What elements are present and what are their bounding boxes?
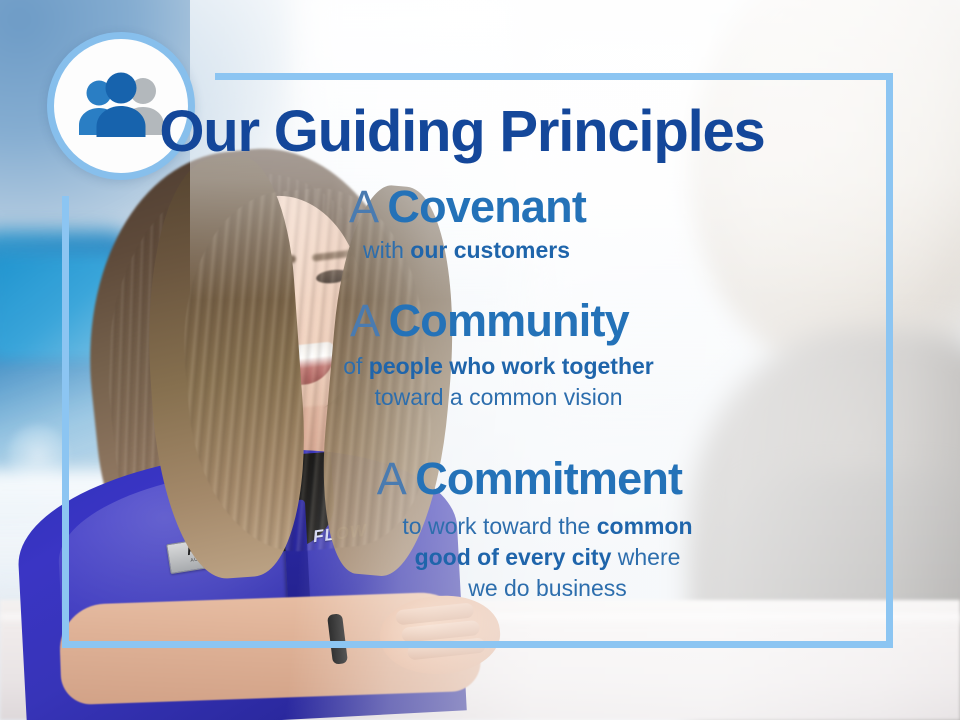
principle-heading: A Covenant [62, 181, 893, 233]
principle-keyword: Community [389, 295, 629, 346]
principle-heading: A Community [62, 295, 893, 347]
subtext-emphasis: people who work together [369, 353, 654, 379]
principle-subtext: of people who work togethertoward a comm… [62, 351, 893, 413]
principle-subtext-line: good of every city where [202, 542, 893, 573]
principle-heading: A Commitment [62, 453, 893, 505]
principle-commitment: A Commitment to work toward the commongo… [62, 453, 893, 604]
principle-covenant: A Covenant with our customers [62, 181, 893, 266]
principle-keyword: Covenant [387, 181, 586, 232]
subtext-emphasis: good of every city [415, 544, 612, 570]
principle-keyword: Commitment [415, 453, 682, 504]
principle-subtext: with our customers [62, 235, 893, 266]
page-title: Our Guiding Principles [62, 101, 862, 163]
poster-root: FLOW FLOW AUTOMOTIVE [0, 0, 960, 720]
subtext-plain: with [363, 237, 410, 263]
principle-article: A [349, 181, 387, 232]
subtext-plain: where [611, 544, 680, 570]
subtext-emphasis: our customers [410, 237, 570, 263]
principle-subtext-line: to work toward the common [202, 511, 893, 542]
subtext-plain: toward a common vision [375, 384, 623, 410]
principle-article: A [377, 453, 415, 504]
principle-subtext-line: of people who work together [104, 351, 893, 382]
principle-community: A Community of people who work togethert… [62, 295, 893, 413]
principle-article: A [350, 295, 388, 346]
content-area: Our Guiding Principles A Covenant with o… [62, 73, 893, 648]
principle-subtext: to work toward the commongood of every c… [62, 511, 893, 604]
principle-subtext-line: with our customers [62, 235, 871, 266]
principle-subtext-line: toward a common vision [104, 382, 893, 413]
principle-subtext-line: we do business [202, 573, 893, 604]
subtext-plain: of [343, 353, 369, 379]
subtext-plain: we do business [468, 575, 627, 601]
subtext-plain: to work toward the [402, 513, 596, 539]
subtext-emphasis: common [597, 513, 693, 539]
